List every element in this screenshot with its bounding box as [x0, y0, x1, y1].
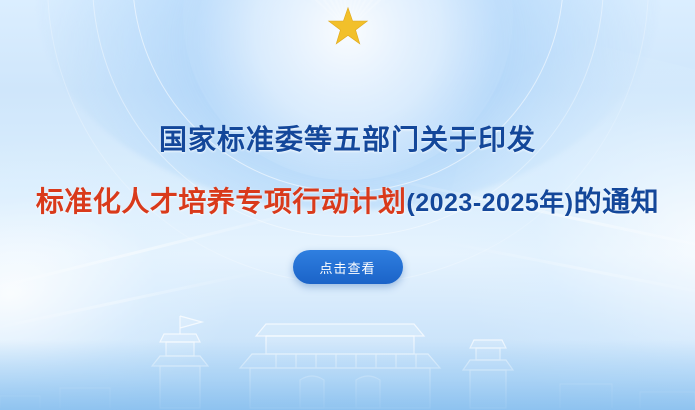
banner-title-line-1: 国家标准委等五部门关于印发: [159, 118, 536, 158]
banner-title-suffix: 的通知: [574, 186, 660, 217]
banner-content: 国家标准委等五部门关于印发 标准化人才培养专项行动计划(2023-2025年)的…: [0, 0, 695, 410]
banner-title-line-2: 标准化人才培养专项行动计划(2023-2025年)的通知: [36, 180, 659, 220]
banner-title-highlight: 标准化人才培养专项行动计划: [36, 186, 407, 217]
view-details-button[interactable]: 点击查看: [293, 250, 403, 284]
banner-title-years: (2023-2025年): [406, 189, 573, 217]
announcement-banner: 国家标准委等五部门关于印发 标准化人才培养专项行动计划(2023-2025年)的…: [0, 0, 695, 410]
